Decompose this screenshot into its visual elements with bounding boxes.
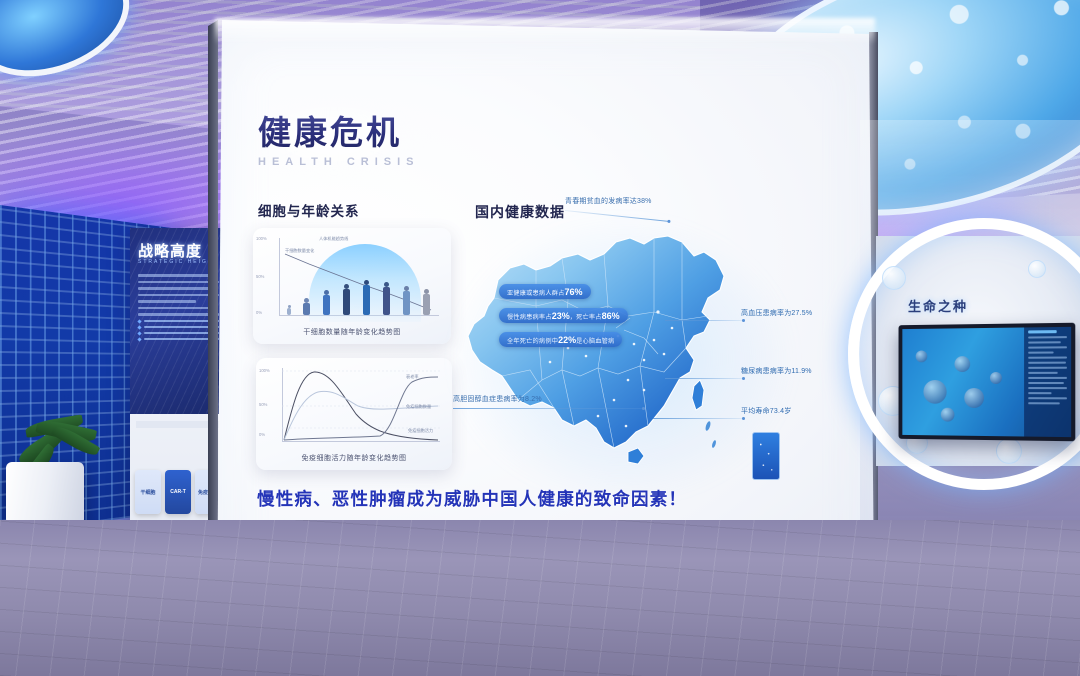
chart2-legend-2: 免疫细胞数量 — [406, 404, 431, 410]
cell-graphic — [964, 388, 984, 408]
wall-title-block: 健康危机 HEALTH CRISIS — [258, 106, 420, 168]
hainan — [628, 448, 644, 464]
pill-value: 22% — [558, 335, 576, 345]
life-seed-exhibit: 生命之种 — [876, 236, 1080, 466]
cell-graphic — [916, 350, 928, 362]
diamond-bullet-icon — [137, 319, 141, 323]
figure-teen — [323, 290, 330, 315]
floor — [0, 520, 1080, 676]
exhibition-hall-photo: 战略高度 STRATEGIC HEIGHT 干细胞 CAR-T 免疫细胞 — [0, 0, 1080, 676]
callout-anemia: 青春期贫血的发病率达38% — [565, 196, 652, 206]
text-line — [138, 300, 196, 303]
pill-value: 23% — [552, 311, 570, 321]
board-divider — [136, 421, 220, 428]
cell-graphic — [990, 372, 1002, 384]
text-line — [138, 287, 209, 290]
chart1-ytick: 50% — [256, 274, 264, 279]
pill-text: ，死亡率占 — [570, 314, 602, 321]
callout-hypertension: 高血压患病率为27.5% — [741, 308, 812, 318]
chart-card-immune: 100% 50% 0% 衰老率 免疫细胞数量 免疫细胞活力 免疫细胞活力随年龄变… — [256, 358, 452, 470]
text-line — [138, 307, 209, 310]
chart2-legend-1: 衰老率 — [406, 374, 419, 380]
pill-text: 亚健康或患病人群占 — [507, 290, 565, 297]
pill-text: 慢性病患病率占 — [507, 314, 552, 321]
cell-graphic — [941, 408, 955, 422]
chart2-ytick: 0% — [259, 432, 265, 437]
chart-card-stemcell: 100% 50% 0% 人体机能趋势线 干细胞数量变化 干细胞数量随年龄变化趋势… — [253, 228, 451, 344]
callout-diabetes: 糖尿病患病率为11.9% — [741, 366, 812, 376]
bullet-item — [138, 338, 219, 341]
callout-diabetes-line — [665, 378, 743, 379]
wall-top-light-strip — [215, 18, 875, 44]
cell-graphic — [954, 356, 970, 372]
figure-middle-age — [383, 282, 390, 315]
exhibit-title: 生命之种 — [908, 296, 968, 315]
map-pill-cardio: 全年死亡的病例中22%是心脑血管病 — [499, 332, 622, 347]
figure-elderly — [423, 289, 430, 315]
callout-hypertension-line — [665, 320, 743, 321]
callout-cholesterol: 高胆固醇血症患病率为8.2% — [453, 394, 542, 404]
board-chip-stemcell[interactable]: 干细胞 — [135, 470, 161, 514]
figure-senior — [403, 286, 410, 315]
callout-lifespan-line — [653, 418, 743, 419]
chart1-caption: 干细胞数量随年龄变化趋势图 — [253, 327, 451, 337]
pill-text: 是心脑血管病 — [576, 338, 614, 345]
map-pill-chronic: 慢性病患病率占23%，死亡率占86% — [499, 308, 628, 323]
screen-side-panel — [1024, 327, 1071, 437]
bullet-item — [138, 320, 219, 323]
bubble-decor — [1028, 260, 1046, 278]
bottom-headline: 慢性病、恶性肿瘤成为威胁中国人健康的致命因素！ — [257, 486, 687, 511]
chart1-ytick: 0% — [256, 310, 262, 315]
figure-young-adult — [343, 284, 350, 315]
bullet-item — [138, 326, 219, 329]
figure-child — [303, 298, 310, 315]
board-chip-cart[interactable]: CAR-T — [165, 470, 191, 514]
chart1-arc-label: 人体机能趋势线 — [319, 236, 348, 242]
page-title: 健康危机 — [258, 106, 420, 154]
diamond-bullet-icon — [137, 325, 141, 329]
map-pill-subhealth: 亚健康或患病人群占76% — [499, 284, 591, 299]
callout-lifespan: 平均寿命73.4岁 — [741, 406, 791, 416]
strategy-board-subtitle: STRATEGIC HEIGHT — [138, 259, 219, 265]
cell-graphic — [923, 380, 946, 404]
chart2-caption: 免疫细胞活力随年龄变化趋势图 — [256, 453, 452, 463]
text-line — [138, 281, 219, 284]
chart2-ytick: 100% — [259, 368, 270, 373]
pill-text: 全年死亡的病例中 — [507, 338, 558, 345]
text-line — [138, 274, 209, 277]
china-map — [458, 220, 788, 490]
bullet-item — [138, 332, 219, 335]
chart1-ytick: 100% — [256, 236, 267, 241]
south-china-sea-inset — [752, 432, 780, 480]
callout-cholesterol-line — [453, 408, 643, 409]
section-heading-cell-age: 细胞与年龄关系 — [258, 200, 360, 220]
chart2-legend-3: 免疫细胞活力 — [408, 428, 433, 434]
page-subtitle: HEALTH CRISIS — [258, 156, 420, 168]
china-map-region — [458, 220, 788, 490]
text-line — [138, 313, 219, 316]
exhibit-display-screen[interactable] — [899, 323, 1076, 442]
chart1-y-axis — [279, 238, 280, 316]
bubble-decor — [996, 438, 1022, 464]
pill-value: 76% — [565, 287, 583, 297]
text-line — [138, 294, 219, 297]
bubble-decor — [882, 266, 906, 290]
taiwan — [692, 380, 704, 410]
diamond-bullet-icon — [137, 337, 141, 341]
pill-value: 86% — [602, 311, 620, 321]
strategy-board-paragraph — [138, 274, 219, 341]
diamond-bullet-icon — [137, 331, 141, 335]
figure-adult — [363, 280, 370, 315]
strategy-board-title: 战略高度 — [138, 240, 202, 261]
chart2-ytick: 50% — [259, 402, 267, 407]
figure-baby — [287, 305, 291, 315]
